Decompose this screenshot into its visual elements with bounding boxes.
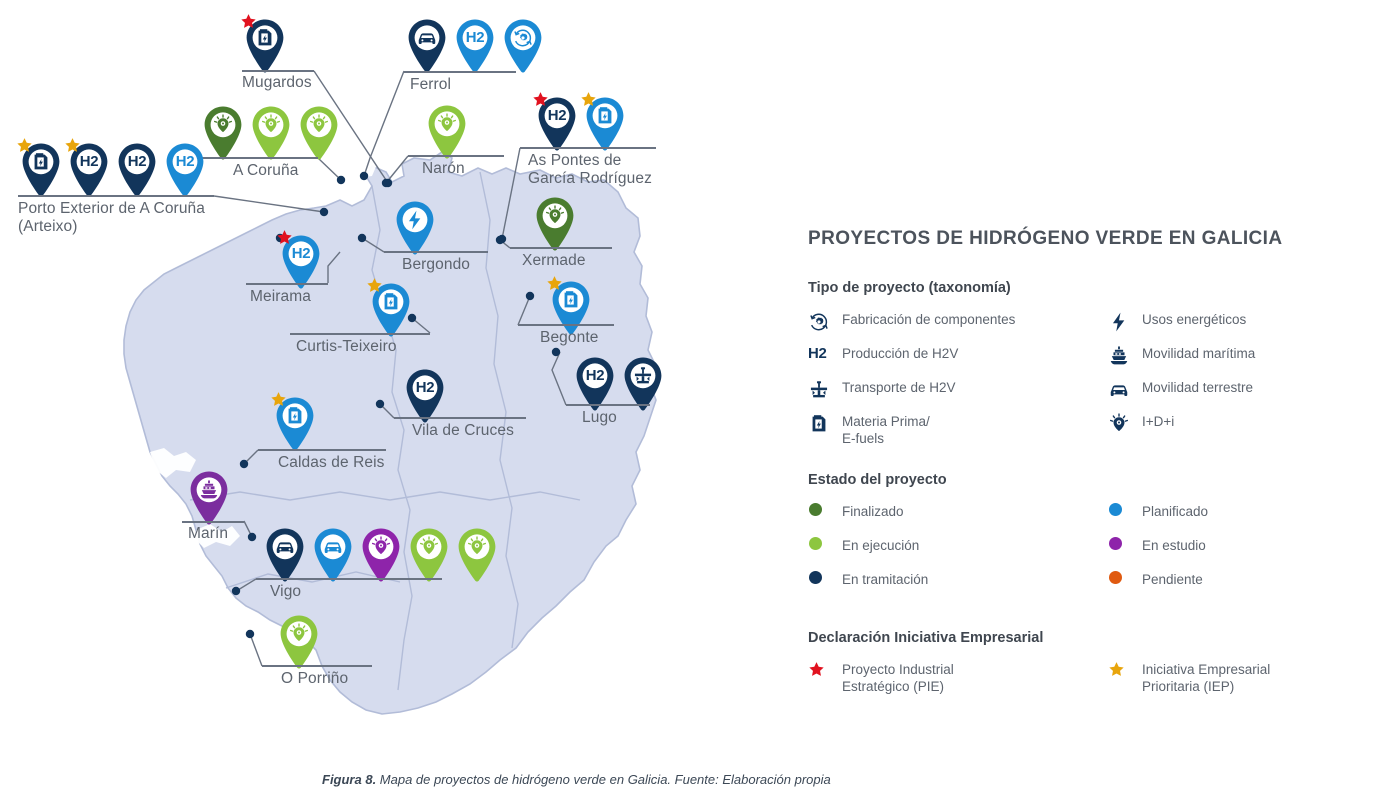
map-marker-group-ferrol[interactable]: H2 [404, 18, 546, 74]
legend-item: En ejecución [808, 536, 1108, 570]
marker-underline [510, 247, 612, 249]
legend-item-label: En ejecución [842, 536, 919, 554]
gold-star-icon [366, 277, 383, 294]
red-star-icon [276, 229, 293, 246]
marker-underline [518, 324, 614, 326]
legend-item: En tramitación [808, 570, 1108, 604]
red-star-icon [532, 91, 549, 108]
map-pin-idi-bulb-icon[interactable] [276, 614, 322, 670]
legend-item-label: Finalizado [842, 502, 904, 520]
map-marker-group-caldas-de-reis[interactable] [272, 396, 318, 452]
leader-line [250, 634, 262, 666]
map-pin-jerrycan-icon[interactable] [548, 280, 594, 336]
map-pin-lightning-icon[interactable] [392, 200, 438, 256]
status-dot [808, 502, 842, 516]
legend-section-heading: Estado del proyecto [808, 472, 1388, 488]
map-marker-group-porto-exterior-de-a-coru-a-arteixo-[interactable]: H2H2H2 [18, 142, 208, 198]
map-label-a-coru-a: A Coruña [233, 162, 298, 180]
map-pin-idi-bulb-icon[interactable] [424, 104, 470, 160]
legend-items-grid: Fabricación de componentesUsos energétic… [808, 310, 1388, 446]
legend-item-label: I+D+i [1142, 412, 1174, 430]
map-label-as-pontes-de-garc-a-rodr-guez: As Pontes de García Rodríguez [528, 152, 652, 188]
legend-item: Proyecto Industrial Estratégico (PIE) [808, 660, 1108, 694]
marker-underline [408, 155, 504, 157]
map-label-mugardos: Mugardos [242, 74, 312, 92]
map-label-o-porri-o: O Porriño [281, 670, 348, 688]
ship-icon [1108, 344, 1142, 367]
legend-section-1: Estado del proyectoFinalizadoPlanificado… [808, 472, 1388, 604]
map-marker-group-vila-de-cruces[interactable]: H2 [402, 368, 448, 424]
marker-underline [566, 404, 650, 406]
marker-underline [262, 665, 372, 667]
legend-item-label: Movilidad marítima [1142, 344, 1255, 362]
map-pin-h2-icon[interactable]: H2 [402, 368, 448, 424]
legend-item-label: Transporte de H2V [842, 378, 956, 396]
map-label-curtis-teixeiro: Curtis-Teixeiro [296, 338, 397, 356]
map-pin-gear-orbit-icon[interactable] [500, 18, 546, 74]
map-pin-idi-bulb-icon[interactable] [532, 196, 578, 252]
map-pin-jerrycan-icon[interactable] [368, 282, 414, 338]
map-label-caldas-de-reis: Caldas de Reis [278, 454, 385, 472]
map-marker-group-as-pontes-de-garc-a-rodr-guez[interactable]: H2 [534, 96, 628, 152]
map-pin-car-icon[interactable] [404, 18, 450, 74]
car-icon [1108, 378, 1142, 401]
map-label-nar-n: Narón [422, 160, 465, 178]
legend-item: Movilidad terrestre [1108, 378, 1388, 412]
legend-item: Fabricación de componentes [808, 310, 1108, 344]
red-star-icon [240, 13, 257, 30]
status-dot [1108, 502, 1142, 516]
map-pin-h2-icon[interactable]: H2 [66, 142, 112, 198]
map-pin-jerrycan-icon[interactable] [242, 18, 288, 74]
map-label-xermade: Xermade [522, 252, 586, 270]
map-anchor-dot [232, 587, 240, 595]
map-pin-h2-icon[interactable]: H2 [278, 234, 324, 290]
legend-item-label: Producción de H2V [842, 344, 958, 362]
map-label-porto-exterior-de-a-coru-a-arteixo-: Porto Exterior de A Coruña (Arteixo) [18, 200, 205, 236]
gold-star-icon [1108, 660, 1142, 678]
caption-figure-number: Figura 8. [322, 772, 376, 787]
marker-underline [520, 147, 656, 149]
legend-item: H2Producción de H2V [808, 344, 1108, 378]
legend-item-label: Usos energéticos [1142, 310, 1246, 328]
legend-item-label: Pendiente [1142, 570, 1203, 588]
status-dot [808, 570, 842, 584]
map-pin-idi-bulb-icon[interactable] [248, 105, 294, 161]
legend-item-label: Fabricación de componentes [842, 310, 1015, 328]
gold-star-icon [546, 275, 563, 292]
legend-items-grid: FinalizadoPlanificadoEn ejecuciónEn estu… [808, 502, 1388, 604]
lightning-icon [1108, 310, 1142, 333]
marker-underline [200, 157, 318, 159]
status-dot [1108, 570, 1142, 584]
legend-item: Usos energéticos [1108, 310, 1388, 344]
map-label-bergondo: Bergondo [402, 256, 470, 274]
marker-underline [182, 521, 244, 523]
legend-items-grid: Proyecto Industrial Estratégico (PIE)Ini… [808, 660, 1388, 694]
map-marker-group-bergondo[interactable] [392, 200, 438, 256]
marker-underline [394, 417, 526, 419]
map-label-lugo: Lugo [582, 409, 617, 427]
map-label-begonte: Begonte [540, 329, 598, 347]
leader-line [214, 196, 324, 212]
map-pin-car-icon[interactable] [310, 527, 356, 583]
map-label-vila-de-cruces: Vila de Cruces [412, 422, 514, 440]
leader-line [318, 158, 341, 180]
map-anchor-dot [358, 234, 366, 242]
pipe-valve-icon [808, 378, 842, 401]
gold-star-icon [580, 91, 597, 108]
gear-orbit-icon [808, 310, 842, 333]
map-pin-h2-icon[interactable]: H2 [452, 18, 498, 74]
map-anchor-dot [248, 533, 256, 541]
legend-item-label: Planificado [1142, 502, 1208, 520]
map-anchor-dot [240, 460, 248, 468]
marker-underline [384, 251, 488, 253]
legend-item-label: Materia Prima/ E-fuels [842, 412, 930, 447]
map-marker-group-begonte[interactable] [548, 280, 594, 336]
marker-underline [242, 70, 314, 72]
map-pin-idi-bulb-icon[interactable] [454, 527, 500, 583]
marker-underline [256, 578, 442, 580]
legend-item-label: En tramitación [842, 570, 928, 588]
jerrycan-icon [808, 412, 842, 435]
map-pin-h2-icon[interactable]: H2 [534, 96, 580, 152]
legend-item-label: En estudio [1142, 536, 1206, 554]
legend-section-heading: Tipo de proyecto (taxonomía) [808, 280, 1388, 296]
map-marker-group-xermade[interactable] [532, 196, 578, 252]
map-pin-jerrycan-icon[interactable] [18, 142, 64, 198]
map-marker-group-meirama[interactable]: H2 [278, 234, 324, 290]
marker-underline [290, 333, 430, 335]
legend-section-0: Tipo de proyecto (taxonomía)Fabricación … [808, 280, 1388, 446]
caption-text: Mapa de proyectos de hidrógeno verde en … [376, 772, 831, 787]
figure-caption: Figura 8. Mapa de proyectos de hidrógeno… [322, 772, 1022, 787]
map-anchor-dot [360, 172, 368, 180]
map-marker-group-o-porri-o[interactable] [276, 614, 322, 670]
legend-sections: Tipo de proyecto (taxonomía)Fabricación … [808, 280, 1388, 694]
map-pin-jerrycan-icon[interactable] [582, 96, 628, 152]
map-anchor-dot [382, 179, 390, 187]
galicia-map-svg [0, 0, 790, 788]
marker-underline [258, 449, 386, 451]
status-dot [808, 536, 842, 550]
legend-item: Movilidad marítima [1108, 344, 1388, 378]
map-marker-group-mugardos[interactable] [242, 18, 288, 74]
map-pin-h2-icon[interactable]: H2 [162, 142, 208, 198]
marker-underline [18, 195, 214, 197]
legend-panel: PROYECTOS DE HIDRÓGENO VERDE EN GALICIA … [808, 228, 1388, 720]
legend-section-2: Declaración Iniciativa EmpresarialProyec… [808, 630, 1388, 694]
map-pin-ship-icon[interactable] [186, 470, 232, 526]
legend-item: Iniciativa Empresarial Prioritaria (IEP) [1108, 660, 1388, 694]
map-marker-group-mar-n[interactable] [186, 470, 232, 526]
ria-cutout-3 [186, 588, 236, 612]
map-anchor-dot [376, 400, 384, 408]
map-marker-group-vigo[interactable] [262, 527, 500, 583]
gold-star-icon [270, 391, 287, 408]
ria-cutout-4 [300, 176, 356, 200]
marker-underline [404, 71, 516, 73]
gold-star-icon [64, 137, 81, 154]
map-label-mar-n: Marín [188, 525, 228, 543]
map-pin-jerrycan-icon[interactable] [272, 396, 318, 452]
legend-item: I+D+i [1108, 412, 1388, 446]
map-label-ferrol: Ferrol [410, 76, 451, 94]
map-pin-idi-bulb-icon[interactable] [296, 105, 342, 161]
map-pin-idi-bulb-icon[interactable] [358, 527, 404, 583]
map-label-meirama: Meirama [250, 288, 311, 306]
legend-item: Materia Prima/ E-fuels [808, 412, 1108, 446]
legend-section-heading: Declaración Iniciativa Empresarial [808, 630, 1388, 646]
map-marker-group-a-coru-a[interactable] [200, 105, 342, 161]
map-pin-idi-bulb-icon[interactable] [406, 527, 452, 583]
legend-item: Planificado [1108, 502, 1388, 536]
legend-title: PROYECTOS DE HIDRÓGENO VERDE EN GALICIA [808, 228, 1388, 250]
legend-item: Pendiente [1108, 570, 1388, 604]
marker-underline [246, 283, 328, 285]
legend-item: Transporte de H2V [808, 378, 1108, 412]
map-label-vigo: Vigo [270, 583, 301, 601]
legend-item-label: Proyecto Industrial Estratégico (PIE) [842, 660, 954, 695]
map-anchor-dot [526, 292, 534, 300]
legend-item: En estudio [1108, 536, 1388, 570]
h2-text-icon: H2 [808, 344, 842, 362]
map-anchor-dot [496, 236, 504, 244]
map-anchor-dot [337, 176, 345, 184]
map-anchor-dot [246, 630, 254, 638]
legend-item-label: Iniciativa Empresarial Prioritaria (IEP) [1142, 660, 1270, 695]
legend-item-label: Movilidad terrestre [1142, 378, 1253, 396]
red-star-icon [808, 660, 842, 678]
map-pin-car-icon[interactable] [262, 527, 308, 583]
map-marker-group-nar-n[interactable] [424, 104, 470, 160]
idi-bulb-icon [1108, 412, 1142, 435]
figure-root: MugardosH2FerrolA CoruñaNarónH2As Pontes… [0, 0, 1400, 788]
map-pin-h2-icon[interactable]: H2 [114, 142, 160, 198]
status-dot [1108, 536, 1142, 550]
galicia-map-panel: MugardosH2FerrolA CoruñaNarónH2As Pontes… [0, 0, 790, 788]
map-marker-group-curtis-teixeiro[interactable] [368, 282, 414, 338]
map-anchor-dot [320, 208, 328, 216]
gold-star-icon [16, 137, 33, 154]
legend-item: Finalizado [808, 502, 1108, 536]
map-anchor-dot [552, 348, 560, 356]
